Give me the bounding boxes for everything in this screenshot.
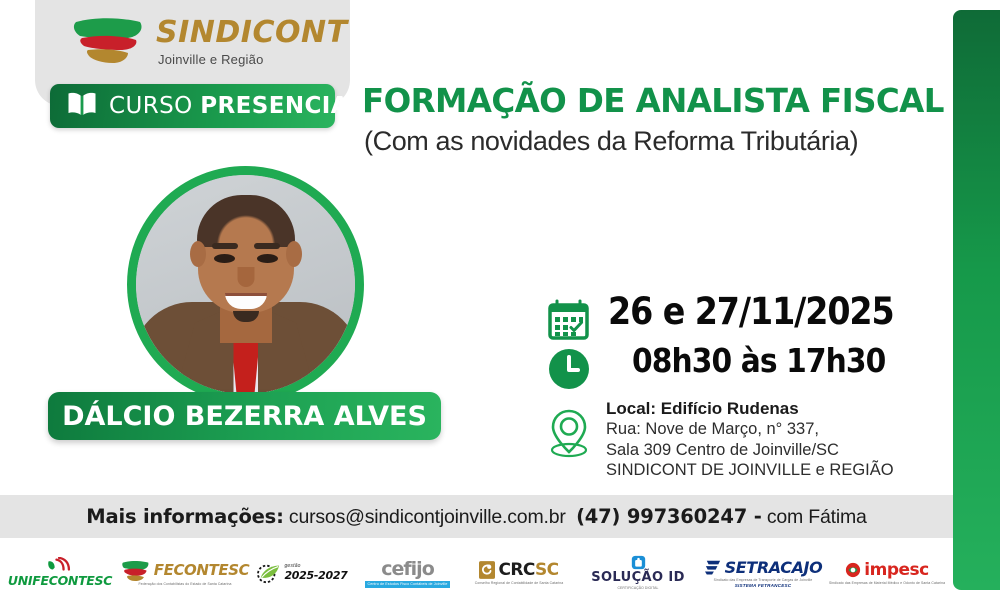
clock-icon (548, 348, 590, 390)
setracajo-mark-icon (704, 559, 722, 575)
partner-name: cefijo (381, 558, 434, 580)
partner-name: UNIFECONTESC (8, 573, 112, 588)
page-title: FORMAÇÃO DE ANALISTA FISCAL (362, 82, 947, 120)
speaker-name-banner: DÁLCIO BEZERRA ALVES (48, 392, 441, 440)
right-green-accent-bar (953, 10, 1000, 590)
sindicont-wordmark: SINDICONT (156, 16, 348, 50)
sindicont-swoosh-icon (70, 16, 154, 68)
partner-name: FECONTESC (154, 561, 250, 579)
contact-label: Mais informações: (86, 505, 283, 528)
fecontesc-swoosh-icon (121, 560, 151, 581)
partner-name: 2025-2027 (284, 569, 347, 582)
sindicont-tagline: Joinville e Região (158, 52, 264, 67)
speaker-name: DÁLCIO BEZERRA ALVES (62, 401, 427, 432)
gestao-leaf-icon (257, 562, 281, 584)
address-line-2: Sala 309 Centro de Joinville/SC (606, 440, 956, 461)
partner-logo-solucao-id: SOLUÇÃO ID CERTIFICAÇÃO DIGITAL (578, 550, 698, 596)
solucao-id-mark-icon (630, 555, 647, 570)
partner-name: impesc (864, 560, 928, 580)
contact-person: com Fátima (767, 506, 867, 528)
partner-name: SETRACAJO (725, 558, 823, 577)
event-time: 08h30 às 17h30 (632, 341, 885, 380)
partner-sub: Sindicato das Empresas de Material Médic… (829, 581, 945, 585)
partner-logo-fecontesc: FECONTESC Federação dos Contabilistas do… (120, 550, 250, 596)
partner-sub: Federação dos Contabilistas do Estado de… (139, 582, 232, 586)
unifecontesc-mark-icon (40, 557, 80, 573)
contact-text: Mais informações: cursos@sindicontjoinvi… (86, 505, 866, 529)
crcsc-mark-icon (479, 561, 495, 579)
contact-email[interactable]: cursos@sindicontjoinville.com.br (289, 506, 566, 528)
badge-word-curso: CURSO (109, 93, 193, 119)
address-line-3: SINDICONT DE JOINVILLE e REGIÃO (606, 460, 956, 481)
calendar-check-icon (546, 297, 591, 342)
impesc-mark-icon (845, 562, 861, 578)
partner-sub: Centro de Estudos Fisco Contábeis de Joi… (365, 581, 451, 588)
partner-logo-cefijo: cefijo Centro de Estudos Fisco Contábeis… (355, 550, 460, 596)
partner-logo-impesc: impesc Sindicato das Empresas de Materia… (828, 550, 946, 596)
page-subtitle: (Com as novidades da Reforma Tributária) (364, 124, 949, 158)
contact-phone[interactable]: (47) 997360247 - (576, 505, 762, 528)
partner-logo-strip: UNIFECONTESC FECONTESC Federação dos Con… (0, 545, 953, 600)
badge-word-presencial: PRESENCIAL (200, 93, 364, 119)
partner-name: SOLUÇÃO ID (591, 570, 685, 585)
badge-label: CURSO PRESENCIAL (109, 93, 364, 119)
partner-logo-gestao: gestão 2025-2027 (250, 550, 355, 596)
avatar (136, 175, 355, 394)
sindicont-logo: SINDICONT Joinville e Região (70, 14, 310, 76)
partner-logo-crcsc: CRCSC Conselho Regional de Contabilidade… (460, 550, 578, 596)
venue-name: Local: Edifício Rudenas (606, 398, 956, 419)
partner-logo-setracajo: SETRACAJO Sindicato das Empresas de Tran… (698, 550, 828, 596)
event-location: Local: Edifício Rudenas Rua: Nove de Mar… (606, 398, 956, 481)
partner-sub2: SISTEMA FETRANCESC (735, 583, 792, 588)
partner-sub: Conselho Regional de Contabilidade de Sa… (475, 581, 564, 585)
partner-sub: CERTIFICAÇÃO DIGITAL (617, 586, 658, 590)
speaker-photo-frame (127, 166, 364, 403)
open-book-icon (67, 91, 97, 122)
flyer-canvas: SINDICONT Joinville e Região CURSO PRESE… (0, 0, 1000, 600)
contact-bar: Mais informações: cursos@sindicontjoinvi… (0, 495, 953, 538)
address-line-1: Rua: Nove de Março, n° 337, (606, 419, 956, 440)
partner-name: CRCSC (498, 560, 558, 580)
map-pin-icon (546, 408, 592, 460)
curso-presencial-badge: CURSO PRESENCIAL (50, 84, 335, 128)
partner-sub: Sindicato das Empresas de Transporte de … (714, 578, 813, 582)
event-date: 26 e 27/11/2025 (608, 290, 894, 333)
partner-logo-unifecontesc: UNIFECONTESC (0, 550, 120, 596)
